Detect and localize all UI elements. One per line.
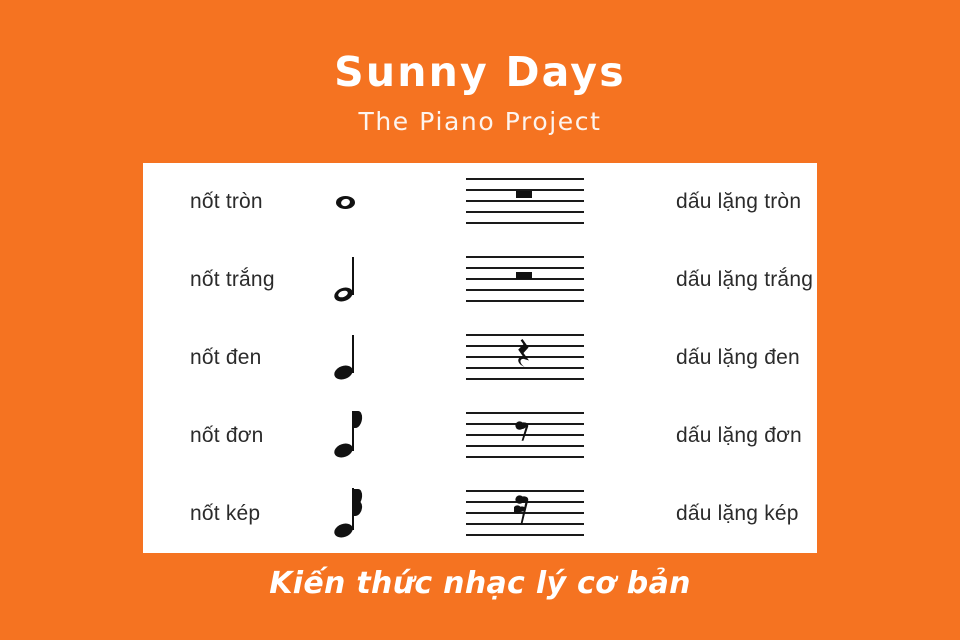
table-row: nốt đen dấu lặng đen <box>143 319 817 397</box>
rest-name-label: dấu lặng tròn <box>620 190 817 214</box>
note-rest-table-card: nốt tròn dấu lặng tròn nốt trắng <box>143 163 817 553</box>
note-name-label: nốt trắng <box>143 268 318 292</box>
note-name-label: nốt đơn <box>143 424 318 448</box>
staff-icon <box>466 332 584 384</box>
sixteenth-rest-icon <box>514 494 534 538</box>
rest-staff-cell <box>430 332 620 384</box>
note-name-label: nốt đen <box>143 346 318 370</box>
note-name-label: nốt kép <box>143 502 318 526</box>
table-row: nốt tròn dấu lặng tròn <box>143 163 817 241</box>
table-row: nốt kép dấu <box>143 475 817 553</box>
rest-name-label: dấu lặng kép <box>620 502 817 526</box>
note-symbol-cell <box>318 408 430 464</box>
rest-name-label: dấu lặng trắng <box>620 268 817 292</box>
eighth-note-icon <box>332 408 376 464</box>
note-symbol-cell <box>318 330 430 386</box>
note-symbol-cell <box>318 252 430 308</box>
quarter-note-icon <box>332 330 376 386</box>
page-title: Sunny Days <box>0 48 960 96</box>
staff-icon <box>466 254 584 306</box>
staff-icon <box>466 410 584 462</box>
half-rest-icon <box>516 272 532 279</box>
note-symbol-cell <box>318 486 430 542</box>
footer-caption: Kiến thức nhạc lý cơ bản <box>0 566 960 601</box>
whole-note-icon <box>332 174 376 230</box>
whole-rest-icon <box>516 191 532 198</box>
rest-staff-cell <box>430 176 620 228</box>
rest-staff-cell <box>430 410 620 462</box>
note-symbol-cell <box>318 174 430 230</box>
rest-staff-cell <box>430 488 620 540</box>
rest-staff-cell <box>430 254 620 306</box>
staff-icon <box>466 176 584 228</box>
sixteenth-note-icon <box>332 486 376 542</box>
table-row: nốt đơn dấu lặng đơn <box>143 397 817 475</box>
rest-name-label: dấu lặng đơn <box>620 424 817 448</box>
note-name-label: nốt tròn <box>143 190 318 214</box>
half-note-icon <box>332 252 376 308</box>
quarter-rest-icon <box>514 335 536 379</box>
table-row: nốt trắng dấu lặng trắng <box>143 241 817 319</box>
poster: Sunny Days The Piano Project nốt tròn dấ… <box>0 0 960 640</box>
eighth-rest-icon <box>514 420 534 454</box>
staff-icon <box>466 488 584 540</box>
header: Sunny Days The Piano Project <box>0 48 960 139</box>
rest-name-label: dấu lặng đen <box>620 346 817 370</box>
page-subtitle: The Piano Project <box>0 105 960 139</box>
